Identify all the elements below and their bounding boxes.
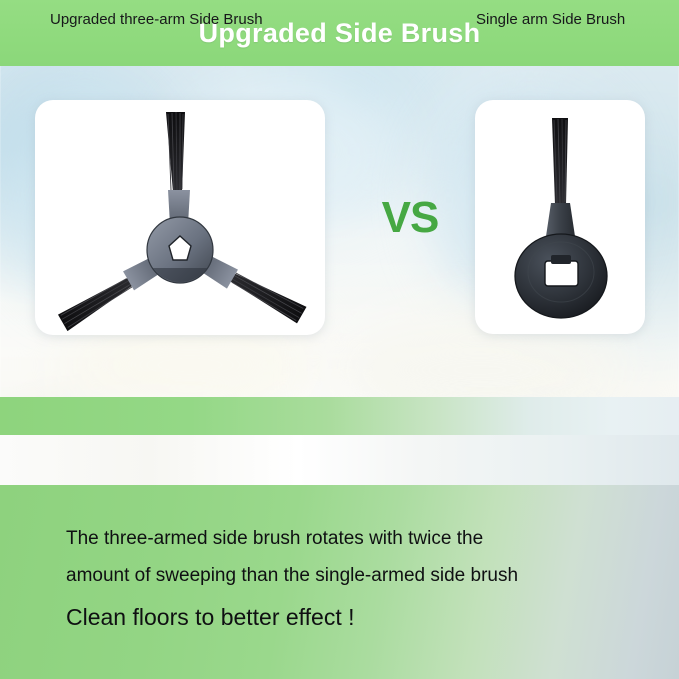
three-arm-side-brush-icon [35,100,325,335]
vs-label: VS [355,196,465,240]
brush-base-disc [515,234,607,318]
bristle-column [552,118,568,205]
description-line-3: Clean floors to better effect ! [66,600,646,634]
bristle-tuft-top [166,112,185,192]
caption-bar [0,397,679,435]
description-line-1: The three-armed side brush rotates with … [66,522,646,555]
product-comparison-infographic: Upgraded Side Brush [0,0,679,679]
description-line-2: amount of sweeping than the single-armed… [66,559,646,592]
single-arm-side-brush-icon [475,100,645,334]
divider-band [0,435,679,485]
product-card-single-arm [475,100,645,334]
description-text-block: The three-armed side brush rotates with … [66,522,646,634]
caption-three-arm: Upgraded three-arm Side Brush [50,0,263,38]
brush-hub [147,217,213,283]
product-card-three-arm [35,100,325,335]
caption-single-arm: Single arm Side Brush [476,0,625,38]
bristle-tuft-left [228,267,307,323]
bristle-tuft-right [58,275,137,331]
